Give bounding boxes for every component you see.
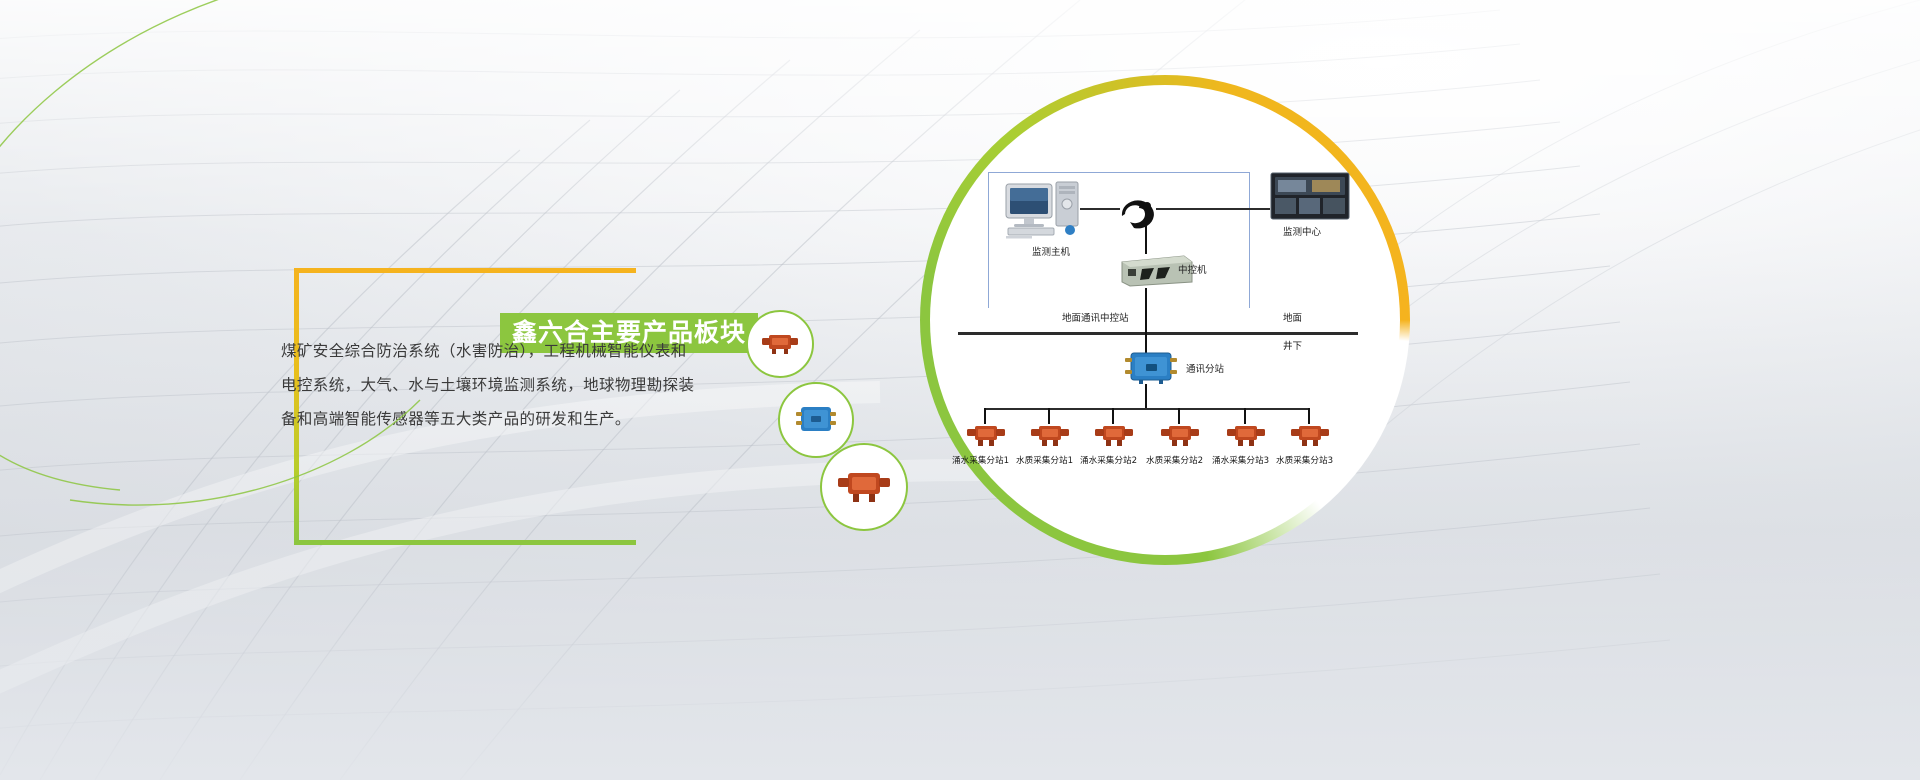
- orange-device-large-icon: [835, 467, 893, 507]
- link-server-to-substation: [1145, 288, 1147, 354]
- label-ground-station: 地面通讯中控站: [1062, 310, 1129, 324]
- link-net-to-server: [1145, 210, 1147, 254]
- drop-1: [984, 408, 986, 424]
- link-substation-to-bus: [1145, 384, 1147, 408]
- collection-station-label: 涌水采集分站2: [1080, 454, 1137, 466]
- distribution-bus: [984, 408, 1308, 410]
- collection-station-label: 水质采集分站1: [1016, 454, 1073, 466]
- orange-station-icon: [1288, 423, 1332, 451]
- comm-substation-icon: [1123, 350, 1179, 384]
- link-net-to-center: [1156, 208, 1270, 210]
- satellite-device-orange-large[interactable]: [820, 443, 908, 531]
- collection-station[interactable]: [1288, 423, 1332, 451]
- label-monitoring-host: 监测主机: [1032, 244, 1070, 258]
- label-comm-substation: 通讯分站: [1186, 361, 1224, 375]
- paragraph-line-2: 电控系统，大气、水与土壤环境监测系统，地球物理勘探装: [281, 368, 711, 402]
- system-diagram: 监测主机 监测中心 中控机 地面通讯中控站 地面 井下: [940, 110, 1390, 500]
- body-paragraph: 煤矿安全综合防治系统（水害防治），工程机械智能仪表和 电控系统，大气、水与土壤环…: [281, 334, 711, 436]
- collection-station-label: 水质采集分站3: [1276, 454, 1333, 466]
- drop-6: [1308, 408, 1310, 424]
- collection-station[interactable]: [1224, 423, 1268, 451]
- collection-station-label: 涌水采集分站3: [1212, 454, 1269, 466]
- collection-station[interactable]: [1028, 423, 1072, 451]
- blue-device-icon: [792, 403, 840, 437]
- collection-station[interactable]: [964, 423, 1008, 451]
- orange-device-icon: [760, 331, 800, 357]
- orange-station-icon: [964, 423, 1008, 451]
- monitoring-host-icon: [1002, 180, 1098, 242]
- orange-station-icon: [1158, 423, 1202, 451]
- link-pc-to-net: [1080, 208, 1120, 210]
- collection-station[interactable]: [1092, 423, 1136, 451]
- orange-station-icon: [1224, 423, 1268, 451]
- collection-station-label: 水质采集分站2: [1146, 454, 1203, 466]
- ground-surface-line: [958, 332, 1358, 335]
- label-ground: 地面: [1283, 310, 1302, 324]
- drop-4: [1178, 408, 1180, 424]
- drop-5: [1244, 408, 1246, 424]
- label-monitoring-center: 监测中心: [1283, 224, 1321, 238]
- frame-bottom-border: [294, 540, 636, 545]
- collection-station-label: 涌水采集分站1: [952, 454, 1009, 466]
- orange-station-icon: [1028, 423, 1072, 451]
- satellite-device-blue[interactable]: [778, 382, 854, 458]
- label-underground: 井下: [1283, 338, 1302, 352]
- label-central-controller: 中控机: [1178, 262, 1207, 276]
- orange-station-icon: [1092, 423, 1136, 451]
- frame-top-border: [294, 268, 636, 273]
- paragraph-line-1: 煤矿安全综合防治系统（水害防治），工程机械智能仪表和: [281, 334, 711, 368]
- satellite-device-orange-small[interactable]: [746, 310, 814, 378]
- paragraph-line-3: 备和高端智能传感器等五大类产品的研发和生产。: [281, 402, 711, 436]
- drop-3: [1112, 408, 1114, 424]
- network-e-icon: [1116, 192, 1160, 236]
- drop-2: [1048, 408, 1050, 424]
- monitoring-center-icon: [1270, 172, 1350, 220]
- collection-station[interactable]: [1158, 423, 1202, 451]
